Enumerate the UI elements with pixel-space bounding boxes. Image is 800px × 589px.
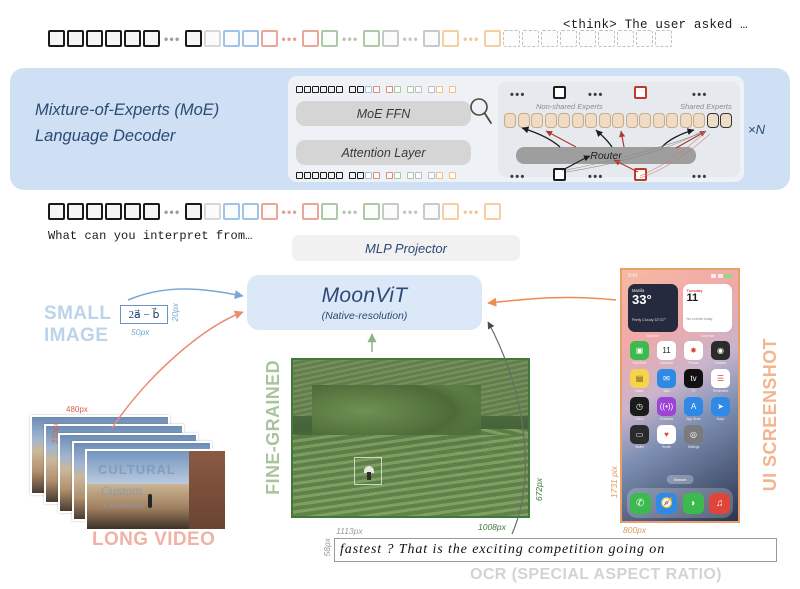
token-black — [67, 30, 84, 47]
token-ellipsis: ••• — [340, 35, 361, 43]
app-label: Maps — [710, 417, 731, 421]
mini-token-red — [373, 86, 380, 93]
non-shared-expert — [693, 113, 705, 128]
mini-token-green — [407, 172, 414, 179]
token-black — [67, 203, 84, 220]
moe-mini-tokens-bottom — [296, 172, 456, 179]
wifi-icon — [718, 274, 723, 278]
app-label: Clock — [629, 417, 650, 421]
ocr-handwritten-text: fastest ? That is the exciting competiti… — [335, 542, 665, 558]
calendar-event: No events today — [687, 317, 729, 321]
token-black — [105, 30, 122, 47]
app-glyph-icon: ◷ — [630, 397, 649, 416]
mini-token-blue — [365, 86, 372, 93]
moe-mini-tokens-top — [296, 86, 456, 93]
token-black — [48, 203, 65, 220]
weather-temp: 33° — [632, 293, 674, 307]
moe-ffn-block: MoE FFN — [296, 101, 471, 126]
mini-token-red — [386, 172, 393, 179]
mini-token-gray2 — [415, 86, 422, 93]
token-dashed — [541, 30, 558, 47]
non-shared-expert — [639, 113, 651, 128]
phone-widget-labels: Weather Calendar — [628, 334, 732, 338]
app-label: TV — [683, 389, 704, 393]
app-icon-settings[interactable]: ◎Settings — [683, 425, 704, 449]
token-black — [124, 203, 141, 220]
expert-ellipsis-top-left: ••• — [510, 92, 526, 98]
token-ellipsis: ••• — [162, 35, 183, 43]
token-black — [86, 30, 103, 47]
expert-strip — [504, 113, 732, 128]
token-blue — [242, 203, 259, 220]
shared-experts-label: Shared Experts — [680, 102, 732, 111]
app-icon-facetime[interactable]: ▣FaceTime — [629, 341, 650, 365]
app-label: Podcasts — [656, 417, 677, 421]
mini-token-green — [394, 86, 401, 93]
expert-token-top-black — [553, 86, 566, 99]
fine-grained-width-label: 1008px — [478, 522, 506, 532]
app-label: Notes — [629, 389, 650, 393]
token-orange — [484, 203, 501, 220]
dock-icon-music[interactable]: ♫ — [709, 493, 730, 514]
weather-city: Manila — [632, 288, 674, 293]
app-icon-calendar[interactable]: 11Calendar — [656, 341, 677, 365]
video-frame-front: CULTURAL Custom a documentary — [85, 449, 227, 531]
prompt-label: What can you interpret from… — [48, 229, 252, 243]
mini-token-red — [386, 86, 393, 93]
mini-token-black — [328, 86, 335, 93]
phone-status-bar: 9:41 — [628, 272, 732, 279]
non-shared-expert — [626, 113, 638, 128]
moe-decoder-title: Mixture-of-Experts (MoE) Language Decode… — [35, 98, 285, 149]
tea-rows-front — [293, 435, 528, 516]
mini-token-black — [296, 172, 303, 179]
expert-ellipsis-bot-right: ••• — [692, 174, 708, 180]
token-dashed — [560, 30, 577, 47]
app-icon-podcasts[interactable]: ((•))Podcasts — [656, 397, 677, 421]
app-icon-tv[interactable]: tvTV — [683, 369, 704, 393]
token-ellipsis: ••• — [401, 35, 422, 43]
token-dashed — [579, 30, 596, 47]
token-blue — [242, 30, 259, 47]
app-glyph-icon: ♥ — [657, 425, 676, 444]
mini-token-black — [336, 86, 343, 93]
router-input-token-red — [634, 168, 647, 181]
dock-icon-phone[interactable]: ✆ — [630, 493, 651, 514]
long-video-category: LONG VIDEO — [92, 529, 215, 551]
small-image-height-label: 20px — [170, 303, 180, 321]
ocr-height-label: 58px — [322, 538, 332, 556]
mlp-projector-block: MLP Projector — [292, 235, 520, 261]
app-icon-camera[interactable]: ◉Camera — [710, 341, 731, 365]
token-green — [321, 30, 338, 47]
mini-token-gray2 — [428, 172, 435, 179]
phone-app-grid: ▣FaceTime11Calendar✸Photos◉Camera▤Notes✉… — [629, 341, 731, 449]
app-label: Photos — [683, 361, 704, 365]
output-token-row: ••••••••••••••• — [48, 30, 672, 47]
mini-token-black — [304, 86, 311, 93]
mini-token-black — [320, 86, 327, 93]
token-blue — [223, 203, 240, 220]
app-label: Calendar — [656, 361, 677, 365]
attention-layer-block: Attention Layer — [296, 140, 471, 165]
shared-expert — [720, 113, 732, 128]
fine-grained-crop-box — [354, 457, 382, 485]
app-glyph-icon: 11 — [657, 341, 676, 360]
app-label: Settings — [683, 445, 704, 449]
app-glyph-icon: ((•)) — [657, 397, 676, 416]
expert-ellipsis-bot-mid: ••• — [588, 174, 604, 180]
mini-token-black — [304, 172, 311, 179]
non-shared-expert — [612, 113, 624, 128]
calendar-widget[interactable]: Tuesday 11 No events today — [683, 284, 733, 332]
mini-token-orange — [436, 172, 443, 179]
ui-screenshot-height-label: 1731 pix — [609, 466, 619, 498]
token-black — [185, 203, 202, 220]
token-orange — [442, 30, 459, 47]
app-glyph-icon: ✉ — [657, 369, 676, 388]
mini-token-gray2 — [415, 172, 422, 179]
app-label: App Store — [683, 417, 704, 421]
non-shared-expert — [680, 113, 692, 128]
moonvit-name: MoonViT — [322, 284, 408, 308]
mini-token-red — [373, 172, 380, 179]
ui-screenshot-category: UI SCREENSHOT — [760, 338, 781, 491]
small-image-formula: 2a⃗ − b⃗ — [120, 305, 168, 324]
token-dashed — [655, 30, 672, 47]
mini-token-black — [349, 86, 356, 93]
app-glyph-icon: tv — [684, 369, 703, 388]
video-caption-3: a documentary — [104, 504, 144, 510]
token-red — [261, 30, 278, 47]
app-glyph-icon: ▤ — [630, 369, 649, 388]
phone-dock: ✆🧭◗♫ — [627, 488, 733, 518]
signal-icon — [711, 274, 716, 278]
token-gray — [204, 30, 221, 47]
app-label: Mail — [656, 389, 677, 393]
long-video-height-label: 270px — [51, 422, 60, 444]
router-block: Router — [516, 147, 696, 164]
moonvit-block: MoonViT (Native-resolution) — [247, 275, 482, 330]
token-black — [124, 30, 141, 47]
small-image-category-line2: IMAGE — [44, 325, 111, 347]
token-gray2 — [382, 30, 399, 47]
dock-icon-safari[interactable]: 🧭 — [656, 493, 677, 514]
mini-token-orange — [449, 86, 456, 93]
app-icon-app-store[interactable]: AApp Store — [683, 397, 704, 421]
token-black — [143, 203, 160, 220]
ocr-category: OCR (SPECIAL ASPECT RATIO) — [470, 566, 722, 584]
app-icon-notes[interactable]: ▤Notes — [629, 369, 650, 393]
mini-token-black — [320, 172, 327, 179]
fine-grained-category: FINE-GRAINED — [263, 360, 284, 495]
app-icon-maps[interactable]: ➤Maps — [710, 397, 731, 421]
weather-condition: Partly Cloudy 33°/27° — [632, 318, 674, 322]
video-rock — [189, 451, 225, 529]
token-black — [105, 203, 122, 220]
long-video-width-label: 480px — [66, 405, 88, 414]
non-shared-expert — [504, 113, 516, 128]
input-token-row: ••••••••••••••• — [48, 203, 501, 220]
token-red — [302, 30, 319, 47]
ui-screenshot-phone: 9:41 Manila 33° Partly Cloudy 33°/27° Tu… — [620, 268, 740, 523]
non-shared-expert — [545, 113, 557, 128]
mini-token-black — [312, 172, 319, 179]
phone-search-pill[interactable]: Search — [667, 475, 694, 484]
token-gray2 — [382, 203, 399, 220]
app-icon-mail[interactable]: ✉Mail — [656, 369, 677, 393]
video-caption-1: CULTURAL — [98, 462, 176, 477]
app-icon-wallet[interactable]: ▭Wallet — [629, 425, 650, 449]
token-green — [363, 30, 380, 47]
token-green — [363, 203, 380, 220]
token-gray2 — [423, 203, 440, 220]
video-person — [148, 494, 152, 508]
mini-token-green — [394, 172, 401, 179]
mini-token-blue — [365, 172, 372, 179]
mini-token-black — [312, 86, 319, 93]
app-glyph-icon: ◉ — [711, 341, 730, 360]
mini-token-black — [357, 172, 364, 179]
mini-token-black — [328, 172, 335, 179]
token-ellipsis: ••• — [401, 208, 422, 216]
mini-token-black — [349, 172, 356, 179]
expert-token-top-red — [634, 86, 647, 99]
moe-title-line2: Language Decoder — [35, 124, 285, 150]
token-ellipsis: ••• — [280, 208, 301, 216]
non-shared-expert — [518, 113, 530, 128]
weather-widget[interactable]: Manila 33° Partly Cloudy 33°/27° — [628, 284, 678, 332]
app-icon-health[interactable]: ♥Health — [656, 425, 677, 449]
mini-token-orange — [436, 86, 443, 93]
shared-expert — [707, 113, 719, 128]
app-glyph-icon: ✸ — [684, 341, 703, 360]
app-glyph-icon: A — [684, 397, 703, 416]
long-video-frame-stack: CULTURAL Custom a documentary — [30, 415, 230, 525]
app-glyph-icon: ➤ — [711, 397, 730, 416]
magnifier-icon — [468, 96, 494, 126]
mini-token-orange — [449, 172, 456, 179]
small-image-category-line1: SMALL — [44, 303, 111, 325]
token-green — [321, 203, 338, 220]
mini-token-gray2 — [428, 86, 435, 93]
ui-screenshot-width-label: 800px — [623, 525, 646, 535]
non-shared-expert — [666, 113, 678, 128]
token-dashed — [522, 30, 539, 47]
non-shared-expert — [531, 113, 543, 128]
token-gray2 — [423, 30, 440, 47]
fine-grained-height-label: 672px — [534, 478, 544, 501]
crop-body — [367, 472, 371, 480]
mini-token-black — [357, 86, 364, 93]
app-glyph-icon: ☰ — [711, 369, 730, 388]
token-ellipsis: ••• — [461, 208, 482, 216]
mini-token-green — [407, 86, 414, 93]
token-black — [143, 30, 160, 47]
battery-icon — [724, 274, 732, 278]
app-glyph-icon: ▭ — [630, 425, 649, 444]
app-label: Health — [656, 445, 677, 449]
app-icon-clock[interactable]: ◷Clock — [629, 397, 650, 421]
app-icon-photos[interactable]: ✸Photos — [683, 341, 704, 365]
token-red — [302, 203, 319, 220]
expert-ellipsis-bot-left: ••• — [510, 174, 526, 180]
phone-status-icons — [711, 274, 732, 278]
moonvit-subtitle: (Native-resolution) — [322, 310, 408, 322]
token-dashed — [598, 30, 615, 47]
phone-widget-row: Manila 33° Partly Cloudy 33°/27° Tuesday… — [628, 284, 732, 332]
app-label: Wallet — [629, 445, 650, 449]
token-dashed — [503, 30, 520, 47]
token-black — [185, 30, 202, 47]
token-ellipsis: ••• — [162, 208, 183, 216]
moe-title-line1: Mixture-of-Experts (MoE) — [35, 98, 285, 124]
fine-grained-image — [291, 358, 530, 518]
token-blue — [223, 30, 240, 47]
app-label: FaceTime — [629, 361, 650, 365]
token-ellipsis: ••• — [461, 35, 482, 43]
non-shared-expert — [653, 113, 665, 128]
app-glyph-icon: ▣ — [630, 341, 649, 360]
token-orange — [484, 30, 501, 47]
expert-ellipsis-top-right: ••• — [692, 92, 708, 98]
token-dashed — [636, 30, 653, 47]
app-label: Camera — [710, 361, 731, 365]
app-glyph-icon: ◎ — [684, 425, 703, 444]
non-shared-expert — [599, 113, 611, 128]
token-orange — [442, 203, 459, 220]
app-label: Reminders — [710, 389, 731, 393]
video-caption-2: Custom — [101, 484, 142, 498]
repeat-n-label: ×N — [748, 122, 765, 137]
app-icon-reminders[interactable]: ☰Reminders — [710, 369, 731, 393]
ocr-image-strip: fastest ? That is the exciting competiti… — [334, 538, 777, 562]
token-ellipsis: ••• — [280, 35, 301, 43]
token-gray — [204, 203, 221, 220]
widget-label-calendar: Calendar — [683, 334, 733, 338]
token-black — [48, 30, 65, 47]
token-black — [86, 203, 103, 220]
non-shared-expert — [558, 113, 570, 128]
non-shared-expert — [572, 113, 584, 128]
phone-status-time: 9:41 — [628, 273, 638, 279]
small-image-category: SMALL IMAGE — [44, 303, 111, 347]
widget-label-weather: Weather — [628, 334, 678, 338]
ocr-width-label: 1113px — [336, 526, 363, 536]
token-red — [261, 203, 278, 220]
mini-token-black — [336, 172, 343, 179]
non-shared-experts-label: Non-shared Experts — [536, 102, 603, 111]
small-image-width-label: 50px — [131, 327, 149, 337]
expert-ellipsis-top-mid: ••• — [588, 92, 604, 98]
non-shared-expert — [585, 113, 597, 128]
router-input-token-black — [553, 168, 566, 181]
calendar-day: 11 — [687, 293, 729, 305]
token-dashed — [617, 30, 634, 47]
mini-token-black — [296, 86, 303, 93]
dock-icon-messages[interactable]: ◗ — [683, 493, 704, 514]
token-ellipsis: ••• — [340, 208, 361, 216]
